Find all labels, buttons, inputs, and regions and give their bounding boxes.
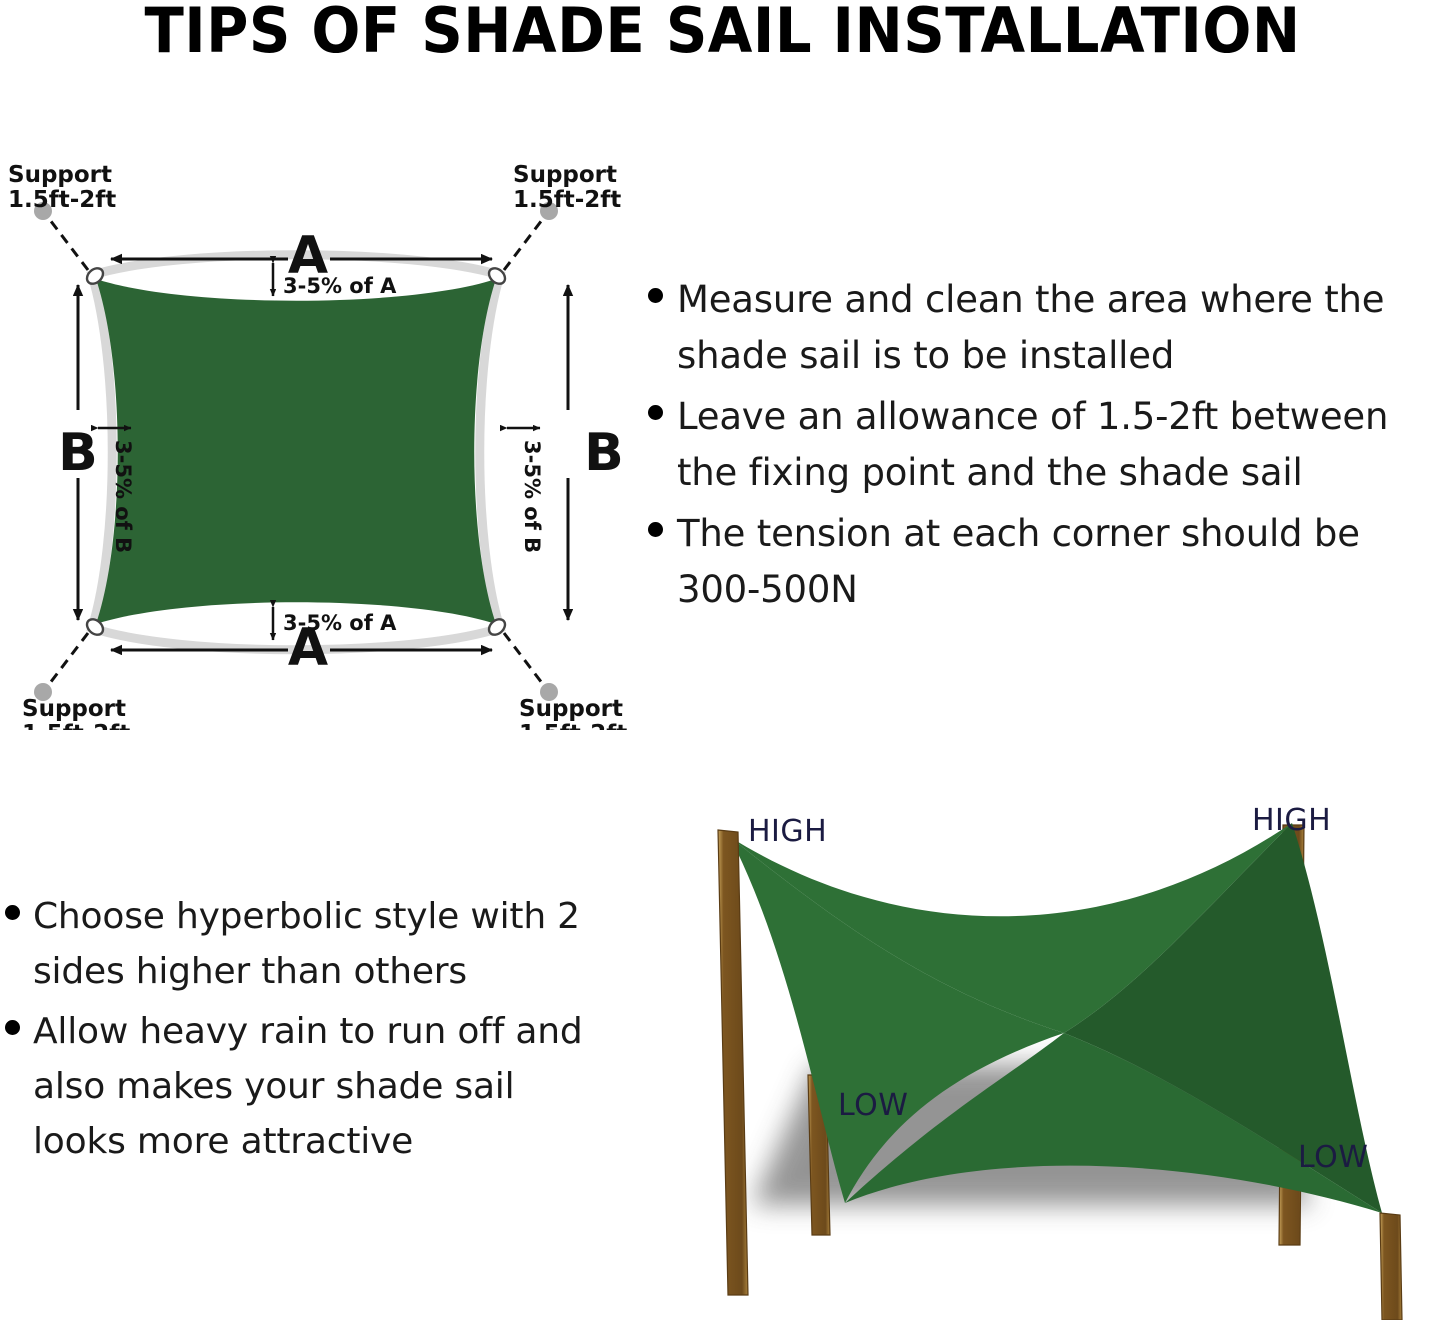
hyperbolic-sail-diagram	[640, 775, 1445, 1320]
support-label-line2: 1.5ft-2ft	[22, 721, 130, 730]
curve-depth-a-top-label: 3-5% of A	[283, 274, 397, 298]
list-item: Choose hyperbolic style with 2 sides hig…	[5, 890, 630, 999]
support-label-top-right: Support 1.5ft-2ft	[513, 162, 621, 213]
support-label-line1: Support	[519, 696, 623, 722]
curve-depth-b-left-label: 3-5% of B	[111, 440, 135, 553]
dimension-b-right-label: B	[584, 423, 624, 483]
post-high-left	[718, 830, 748, 1295]
installation-tips-list-bottom: Choose hyperbolic style with 2 sides hig…	[5, 890, 630, 1176]
support-label-line1: Support	[8, 162, 112, 188]
support-label-line1: Support	[22, 696, 126, 722]
tip-text: Leave an allowance of 1.5-2ft between th…	[677, 389, 1445, 500]
rectangular-sail-diagram: Support 1.5ft-2ft Support 1.5ft-2ft Supp…	[0, 160, 660, 730]
dimension-b-left: B	[58, 285, 98, 620]
support-connector-bottom-right	[504, 633, 558, 701]
curve-depth-b-left: 3-5% of B	[98, 428, 135, 553]
support-label-line1: Support	[513, 162, 617, 188]
tip-text: Choose hyperbolic style with 2 sides hig…	[33, 890, 613, 999]
dimension-b-right: B	[568, 285, 624, 620]
page-title: TIPS OF SHADE SAIL INSTALLATION	[51, 0, 1395, 67]
curve-depth-b-right: 3-5% of B	[507, 428, 544, 553]
list-item: The tension at each corner should be 300…	[648, 506, 1445, 617]
support-label-line2: 1.5ft-2ft	[513, 187, 621, 213]
list-item: Allow heavy rain to run off and also mak…	[5, 1005, 630, 1169]
support-label-line2: 1.5ft-2ft	[519, 721, 627, 730]
label-low-right: LOW	[1298, 1140, 1368, 1175]
tip-text: The tension at each corner should be 300…	[677, 506, 1445, 617]
support-label-line2: 1.5ft-2ft	[8, 187, 116, 213]
bullet-dot-icon	[648, 288, 663, 303]
installation-tips-list-top: Measure and clean the area where the sha…	[648, 272, 1445, 623]
support-label-bottom-right: Support 1.5ft-2ft	[519, 696, 627, 730]
label-low-left: LOW	[838, 1088, 908, 1123]
tip-text: Allow heavy rain to run off and also mak…	[33, 1005, 613, 1169]
support-label-top-left: Support 1.5ft-2ft	[8, 162, 116, 213]
label-high-right: HIGH	[1252, 803, 1331, 838]
curve-depth-b-right-label: 3-5% of B	[520, 440, 544, 553]
support-connector-bottom-left	[34, 633, 88, 701]
label-high-left: HIGH	[748, 814, 827, 849]
dimension-b-left-label: B	[58, 423, 98, 483]
post-low-right	[1380, 1213, 1402, 1320]
tip-text: Measure and clean the area where the sha…	[677, 272, 1445, 383]
bullet-dot-icon	[648, 405, 663, 420]
support-label-bottom-left: Support 1.5ft-2ft	[22, 696, 130, 730]
sail-shape	[96, 279, 496, 624]
list-item: Leave an allowance of 1.5-2ft between th…	[648, 389, 1445, 500]
list-item: Measure and clean the area where the sha…	[648, 272, 1445, 383]
bullet-dot-icon	[648, 522, 663, 537]
bullet-dot-icon	[5, 1020, 20, 1035]
curve-depth-a-bottom-label: 3-5% of A	[283, 611, 397, 635]
bullet-dot-icon	[5, 905, 20, 920]
